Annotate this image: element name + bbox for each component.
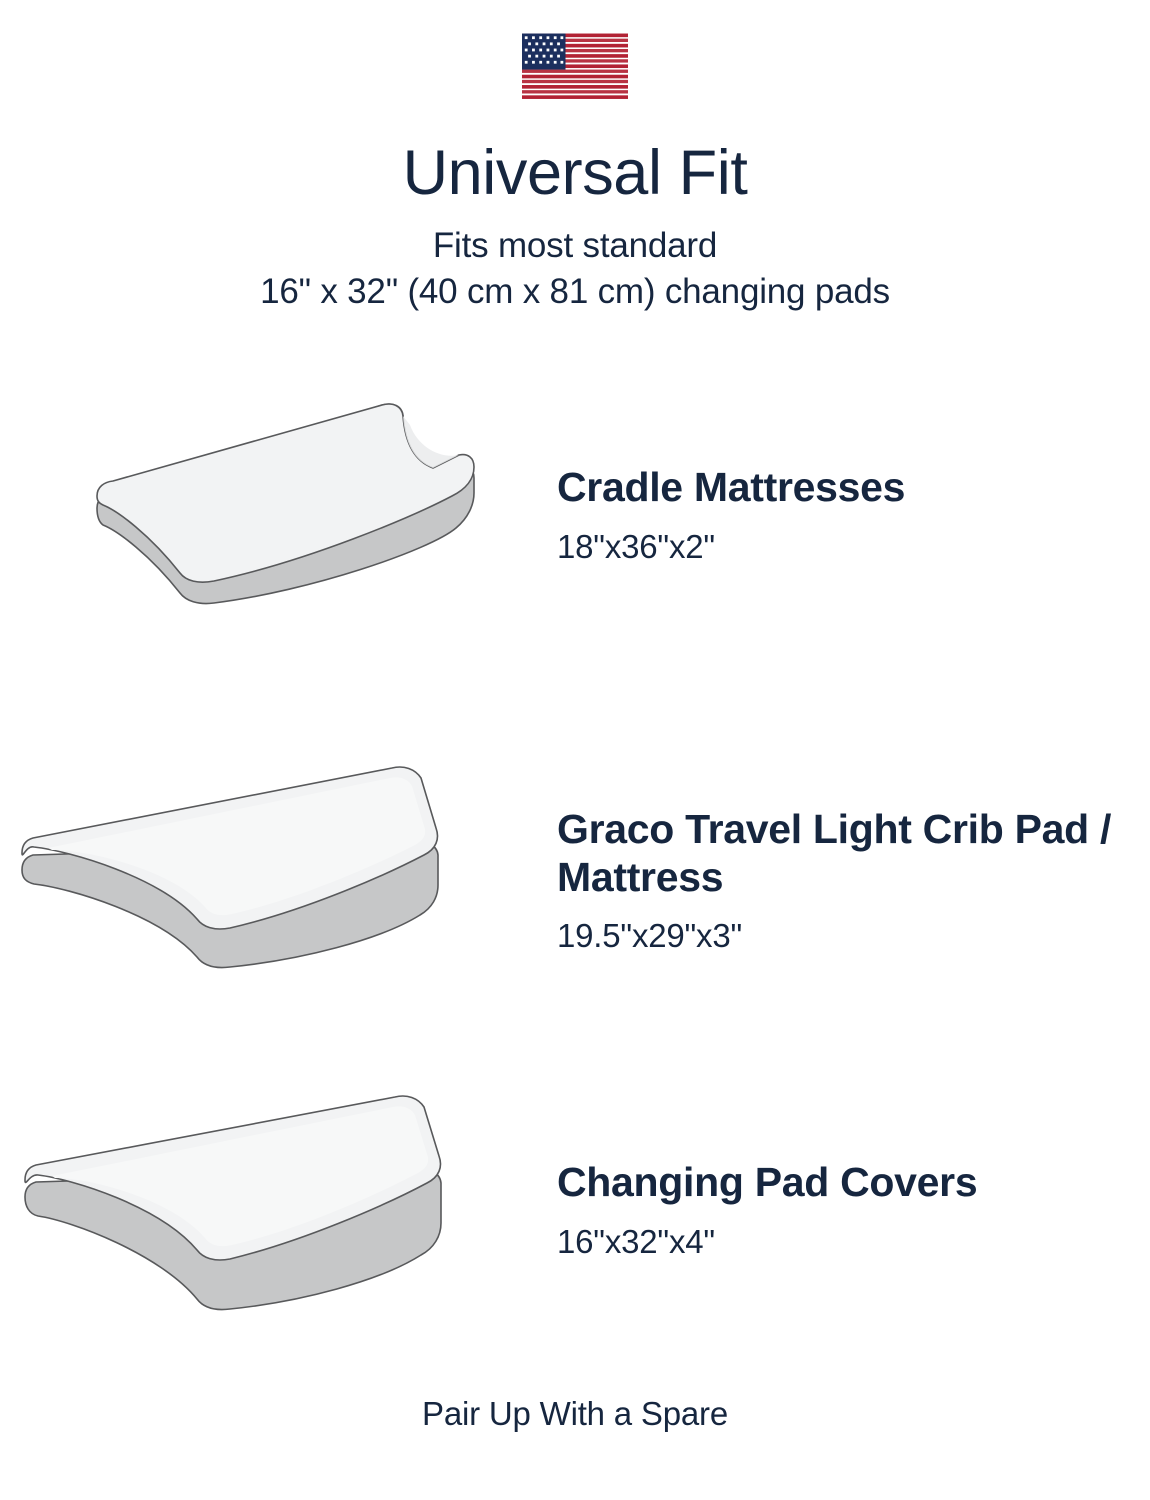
page-title: Universal Fit <box>0 142 1150 205</box>
product-dimensions: 19.5"x29"x3" <box>557 916 1120 956</box>
product-dimensions: 18"x36"x2" <box>557 527 1120 567</box>
flat-mattress-illustration <box>0 760 545 1000</box>
product-info: Cradle Mattresses 18"x36"x2" <box>545 463 1150 567</box>
product-title: Cradle Mattresses <box>557 463 1120 511</box>
flag-container <box>0 33 1150 101</box>
product-row: Graco Travel Light Crib Pad / Mattress 1… <box>0 760 1150 1000</box>
footer-tagline: Pair Up With a Spare <box>0 1395 1150 1433</box>
header: Universal Fit Fits most standard 16" x 3… <box>0 142 1150 314</box>
product-info: Changing Pad Covers 16"x32"x4" <box>545 1158 1150 1262</box>
thick-mattress-illustration <box>0 1090 545 1330</box>
subtitle-line-1: Fits most standard <box>0 223 1150 269</box>
product-title: Graco Travel Light Crib Pad / Mattress <box>557 805 1120 902</box>
product-dimensions: 16"x32"x4" <box>557 1222 1120 1262</box>
product-illustration <box>0 760 545 1000</box>
subtitle-line-2: 16" x 32" (40 cm x 81 cm) changing pads <box>0 269 1150 315</box>
usa-flag-icon <box>522 33 628 101</box>
product-row: Cradle Mattresses 18"x36"x2" <box>0 395 1150 635</box>
contoured-changing-pad-illustration <box>0 395 545 635</box>
page-subtitle: Fits most standard 16" x 32" (40 cm x 81… <box>0 223 1150 314</box>
product-title: Changing Pad Covers <box>557 1158 1120 1206</box>
product-illustration <box>0 1090 545 1330</box>
product-illustration <box>0 395 545 635</box>
product-row: Changing Pad Covers 16"x32"x4" <box>0 1090 1150 1330</box>
product-info: Graco Travel Light Crib Pad / Mattress 1… <box>545 805 1150 955</box>
